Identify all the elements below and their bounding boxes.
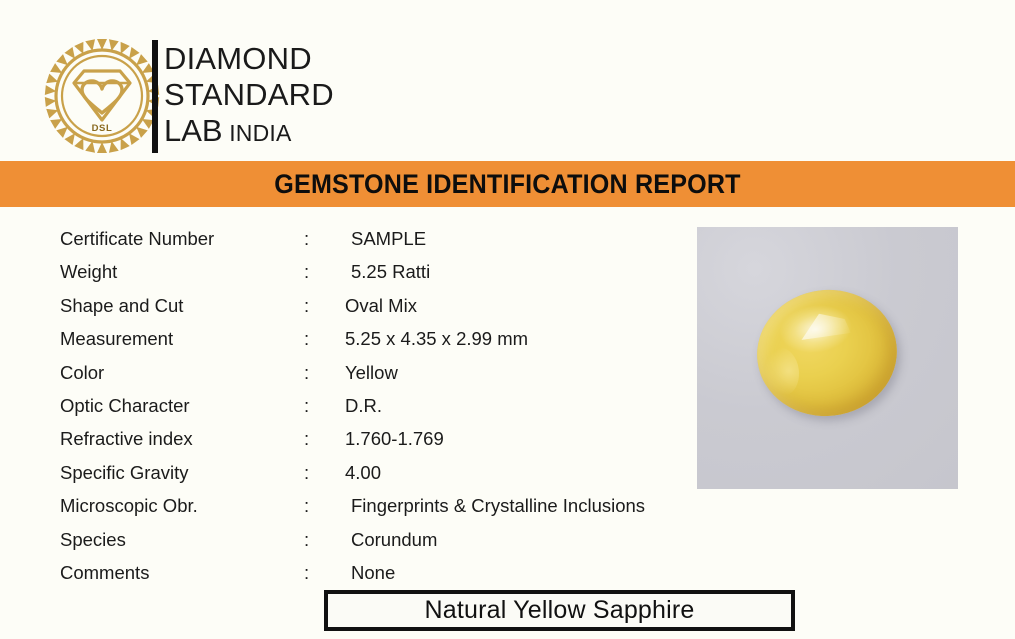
logo-divider bbox=[152, 40, 158, 153]
row-label-weight: Weight bbox=[60, 261, 117, 283]
table-row: Color : Yellow bbox=[60, 362, 690, 395]
row-label-shape-and-cut: Shape and Cut bbox=[60, 295, 183, 317]
table-row: Specific Gravity : 4.00 bbox=[60, 462, 690, 495]
row-value-refractive-index: 1.760-1.769 bbox=[345, 428, 444, 450]
row-value-shape-and-cut: Oval Mix bbox=[345, 295, 417, 317]
row-label-certificate-number: Certificate Number bbox=[60, 228, 214, 250]
table-row: Microscopic Obr. : Fingerprints & Crysta… bbox=[60, 495, 690, 528]
row-separator: : bbox=[304, 395, 309, 417]
table-row: Weight : 5.25 Ratti bbox=[60, 261, 690, 294]
report-title: GEMSTONE IDENTIFICATION REPORT bbox=[36, 161, 980, 207]
brand-name: DIAMOND STANDARD LAB INDIA bbox=[164, 41, 584, 156]
photo-background bbox=[697, 227, 958, 489]
brand-india: INDIA bbox=[223, 120, 292, 146]
table-row: Refractive index : 1.760-1.769 bbox=[60, 428, 690, 461]
row-label-specific-gravity: Specific Gravity bbox=[60, 462, 189, 484]
table-row: Shape and Cut : Oval Mix bbox=[60, 295, 690, 328]
row-separator: : bbox=[304, 362, 309, 384]
row-value-specific-gravity: 4.00 bbox=[345, 462, 381, 484]
row-value-optic-character: D.R. bbox=[345, 395, 382, 417]
row-separator: : bbox=[304, 295, 309, 317]
stone-facet-highlight bbox=[794, 309, 851, 341]
row-value-measurement: 5.25 x 4.35 x 2.99 mm bbox=[345, 328, 528, 350]
brand-line-standard: STANDARD bbox=[164, 77, 584, 113]
stone-rim-light bbox=[762, 346, 802, 398]
row-label-refractive-index: Refractive index bbox=[60, 428, 193, 450]
row-separator: : bbox=[304, 328, 309, 350]
row-label-species: Species bbox=[60, 529, 126, 551]
row-separator: : bbox=[304, 228, 309, 250]
row-separator: : bbox=[304, 529, 309, 551]
row-label-comments: Comments bbox=[60, 562, 149, 584]
stone-name-label: Natural Yellow Sapphire bbox=[328, 594, 791, 627]
report-title-banner: GEMSTONE IDENTIFICATION REPORT bbox=[0, 161, 1015, 207]
row-separator: : bbox=[304, 462, 309, 484]
certificate-header: DSL DIAMOND STANDARD LAB INDIA bbox=[0, 0, 1015, 161]
table-row: Optic Character : D.R. bbox=[60, 395, 690, 428]
row-label-color: Color bbox=[60, 362, 104, 384]
diamond-sunburst-logo-icon: DSL bbox=[44, 37, 160, 155]
gemstone-photograph bbox=[697, 227, 958, 489]
row-value-comments: None bbox=[351, 562, 395, 584]
row-value-microscopic-obr: Fingerprints & Crystalline Inclusions bbox=[351, 495, 645, 517]
table-row: Certificate Number : SAMPLE bbox=[60, 228, 690, 261]
row-label-measurement: Measurement bbox=[60, 328, 173, 350]
row-separator: : bbox=[304, 562, 309, 584]
gemstone-certificate: DSL DIAMOND STANDARD LAB INDIA GEMSTONE … bbox=[0, 0, 1015, 639]
table-row: Species : Corundum bbox=[60, 529, 690, 562]
gem-details-table: Certificate Number : SAMPLE Weight : 5.2… bbox=[60, 228, 690, 595]
brand-lab: LAB bbox=[164, 113, 223, 148]
brand-line-lab-india: LAB INDIA bbox=[164, 113, 584, 151]
row-separator: : bbox=[304, 261, 309, 283]
row-label-microscopic-obr: Microscopic Obr. bbox=[60, 495, 198, 517]
row-separator: : bbox=[304, 428, 309, 450]
row-separator: : bbox=[304, 495, 309, 517]
brand-line-diamond: DIAMOND bbox=[164, 41, 584, 77]
table-row: Measurement : 5.25 x 4.35 x 2.99 mm bbox=[60, 328, 690, 361]
svg-text:DSL: DSL bbox=[92, 123, 113, 134]
row-label-optic-character: Optic Character bbox=[60, 395, 190, 417]
yellow-sapphire-stone bbox=[750, 282, 904, 424]
row-value-color: Yellow bbox=[345, 362, 398, 384]
row-value-weight: 5.25 Ratti bbox=[351, 261, 430, 283]
stone-name-box: Natural Yellow Sapphire bbox=[324, 590, 795, 631]
row-value-certificate-number: SAMPLE bbox=[351, 228, 426, 250]
row-value-species: Corundum bbox=[351, 529, 437, 551]
